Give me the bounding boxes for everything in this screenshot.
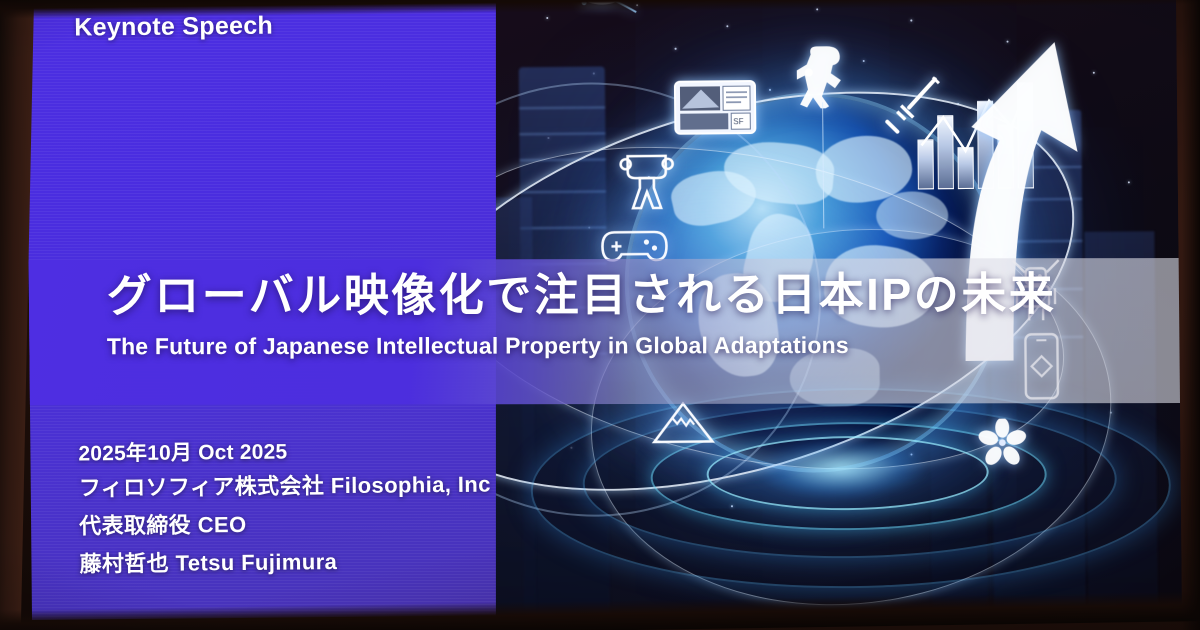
credit-line-name: 藤村哲也 Tetsu Fujimura [79, 541, 499, 583]
credit-line-company: フィロソフィア株式会社 Filosophia, Inc [79, 465, 499, 507]
slide-title: グローバル映像化で注目される日本IPの未来 The Future of Japa… [107, 267, 1147, 362]
credit-line-date: 2025年10月 Oct 2025 [78, 435, 498, 469]
projected-slide: SF [26, 0, 1182, 620]
credits-block: 2025年10月 Oct 2025 フィロソフィア株式会社 Filosophia… [78, 435, 499, 583]
mount-fuji-icon [650, 397, 716, 446]
sakura-blossom-icon [978, 418, 1026, 466]
ninja-warrior-icon [797, 42, 852, 109]
screen-edge-right [1182, 0, 1200, 630]
title-english: The Future of Japanese Intellectual Prop… [107, 328, 1147, 362]
projection-screen-photo: SF [0, 0, 1200, 630]
credit-line-role: 代表取締役 CEO [79, 503, 499, 545]
manga-page-icon: SF [673, 79, 758, 136]
katana-sword-icon [879, 75, 942, 138]
title-japanese: グローバル映像化で注目される日本IPの未来 [107, 267, 1147, 323]
anime-character-icon [615, 144, 678, 213]
svg-text:SF: SF [733, 117, 743, 126]
